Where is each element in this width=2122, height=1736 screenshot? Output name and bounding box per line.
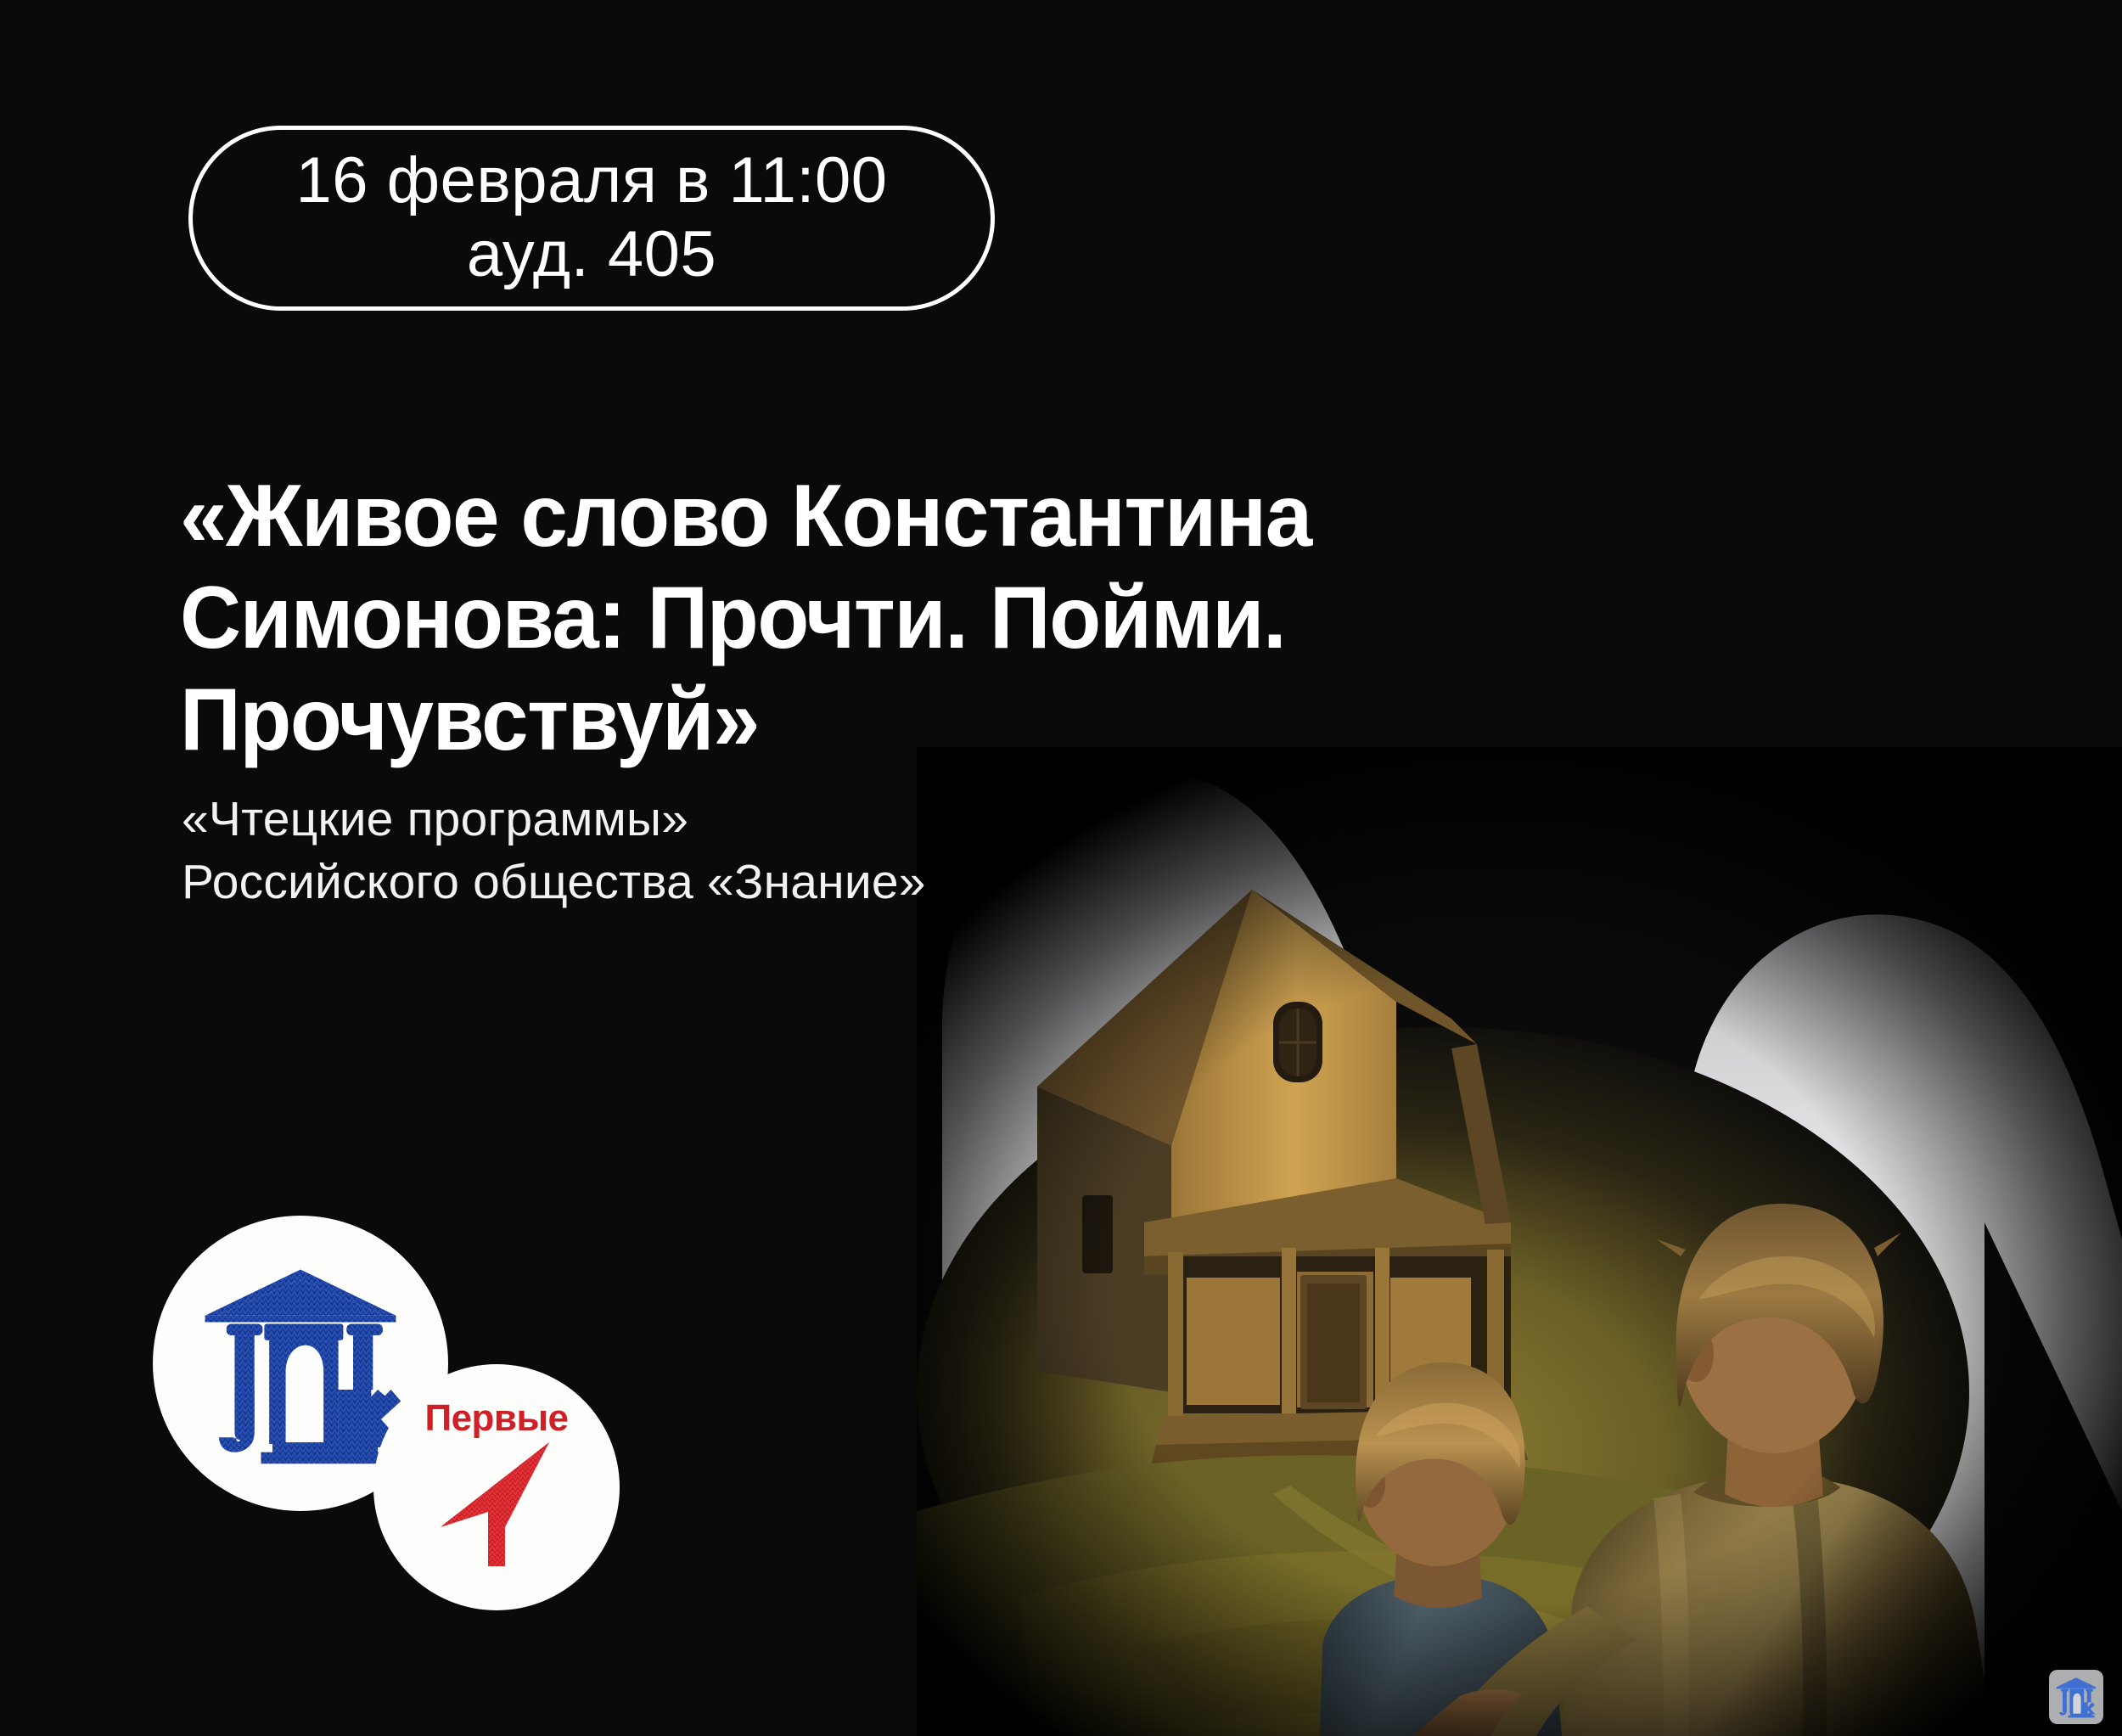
event-datetime-badge: 16 февраля в 11:00 ауд. 405: [188, 126, 995, 311]
npk-watermark-icon: [2054, 1675, 2098, 1719]
night-scene-illustration: [917, 747, 2122, 1736]
poster-subtitle-line-1: «Чтецкие программы»: [182, 788, 926, 851]
event-date-time: 16 февраля в 11:00: [295, 144, 887, 218]
npk-watermark: [2049, 1670, 2103, 1724]
poster-title-line-3: Прочувствуй»: [180, 669, 1696, 771]
poster-subtitle-line-2: Российского общества «Знание»: [182, 851, 926, 913]
event-room: ауд. 405: [467, 218, 716, 292]
artwork-container: [917, 747, 2122, 1736]
poster-subtitle: «Чтецкие программы» Российского общества…: [182, 788, 926, 913]
classical-portico-icon: [194, 1256, 407, 1470]
pervye-label: Первые: [424, 1400, 568, 1437]
poster-title-line-2: Симонова: Прочти. Пойми.: [180, 567, 1696, 669]
pervye-movement-logo: Первые: [373, 1364, 620, 1610]
poster-root: 16 февраля в 11:00 ауд. 405 «Живое слово…: [0, 0, 2122, 1736]
poster-title-line-1: «Живое слово Константина: [180, 465, 1696, 567]
pervye-arrow-icon: [429, 1439, 564, 1566]
poster-title: «Живое слово Константина Симонова: Прочт…: [180, 465, 1696, 771]
